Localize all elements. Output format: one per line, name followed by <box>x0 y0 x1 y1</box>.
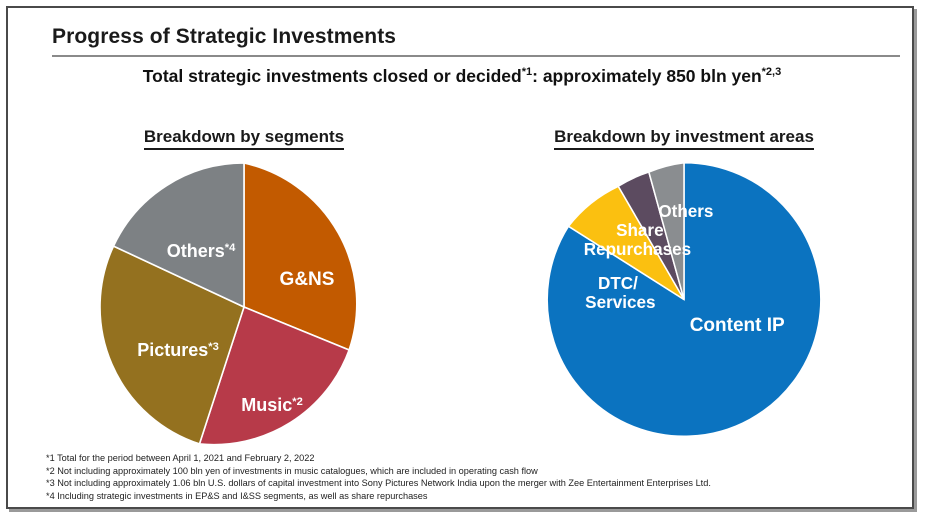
pie-label-share-line2: Repurchases <box>584 240 691 259</box>
footnote-1: *1 Total for the period between April 1,… <box>46 452 876 465</box>
pie-chart-segments-svg: G&NS Music*2 Pictures*3 Others*4 <box>94 157 394 457</box>
pie-label-content-ip-text: Content IP <box>690 315 785 336</box>
pie-label-pictures-text: Pictures <box>137 340 208 360</box>
subtitle-footnote-ref-23: *2,3 <box>762 66 782 78</box>
subtitle-main-text: Total strategic investments closed or de… <box>143 66 522 86</box>
pie-chart-segments: G&NS Music*2 Pictures*3 Others*4 <box>94 157 394 457</box>
subtitle-footnote-ref-1: *1 <box>522 66 532 78</box>
chart-title-investment-areas: Breakdown by investment areas <box>464 127 904 147</box>
pie-label-others-text: Others <box>167 241 225 261</box>
pie-label-music-sup: *2 <box>292 396 303 408</box>
pie-label-dtc-line2: Services <box>585 293 655 312</box>
pie-label-music-text: Music <box>241 395 292 415</box>
page-title: Progress of Strategic Investments <box>52 25 396 49</box>
slide-subtitle: Total strategic investments closed or de… <box>8 66 916 87</box>
pie-chart-investment-areas-svg: Content IP DTC/ Services Share Repurchas… <box>542 157 827 442</box>
footnotes-block: *1 Total for the period between April 1,… <box>46 452 876 502</box>
chart-title-segments-text: Breakdown by segments <box>144 127 344 150</box>
footnote-4: *4 Including strategic investments in EP… <box>46 490 876 503</box>
pie-label-others-right-text: Others <box>658 202 713 221</box>
pie-label-pictures-sup: *3 <box>208 341 219 353</box>
pie-label-gns-text: G&NS <box>280 269 335 290</box>
chart-title-segments: Breakdown by segments <box>24 127 464 147</box>
footnote-3: *3 Not including approximately 1.06 bln … <box>46 477 876 490</box>
pie-label-gns: G&NS <box>280 269 335 290</box>
slide-frame: Progress of Strategic Investments Total … <box>6 6 914 509</box>
pie-chart-investment-areas: Content IP DTC/ Services Share Repurchas… <box>542 157 827 442</box>
pie-label-content-ip: Content IP <box>690 315 785 336</box>
pie-label-dtc-line1: DTC/ <box>598 274 638 293</box>
pie-label-others-right: Others <box>658 202 713 221</box>
pie-label-share-line1: Share <box>616 221 664 240</box>
title-divider <box>52 55 900 57</box>
chart-title-investment-areas-text: Breakdown by investment areas <box>554 127 814 150</box>
pie-label-pictures: Pictures*3 <box>137 340 219 360</box>
subtitle-mid-text: : approximately 850 bln yen <box>532 66 762 86</box>
pie-label-others-sup: *4 <box>225 242 236 254</box>
footnote-2: *2 Not including approximately 100 bln y… <box>46 465 876 478</box>
